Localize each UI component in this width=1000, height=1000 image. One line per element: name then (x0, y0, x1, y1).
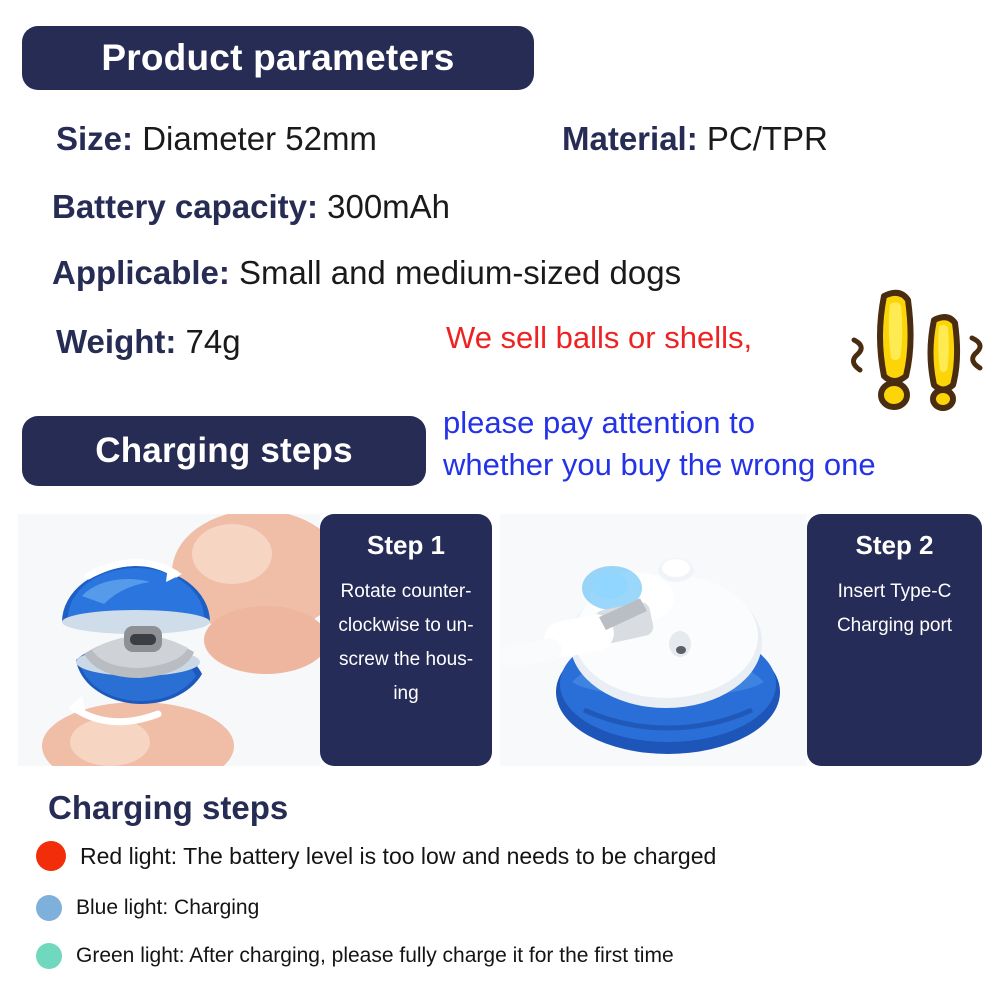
step-1-desc-line-3: screw the hous- (330, 643, 482, 677)
step-2-title: Step 2 (817, 530, 972, 561)
step-2-desc-line-2: Charging port (817, 609, 972, 643)
spec-row-battery-capacity: Battery capacity: 300mAh (52, 190, 450, 223)
product-parameters-header-badge: Product parameters (22, 26, 534, 90)
spec-row-applicable: Applicable: Small and medium-sized dogs (52, 256, 681, 289)
spec-value-size: Diameter 52mm (142, 120, 377, 157)
charging-steps-header-badge: Charging steps (22, 416, 426, 486)
legend-label-red-light: Red light: The battery level is too low … (80, 843, 716, 870)
product-parameters-title: Product parameters (101, 37, 454, 79)
charging-steps-title: Charging steps (95, 431, 353, 471)
spec-label-weight: Weight: (56, 323, 186, 360)
warning-blue-line-2: whether you buy the wrong one (443, 444, 1000, 486)
step-1-desc-line-4: ing (330, 677, 482, 711)
legend-item-blue-light: Blue light: Charging (36, 895, 259, 921)
spec-row-weight: Weight: 74g (56, 325, 241, 358)
spec-label-size: Size: (56, 120, 142, 157)
spec-value-applicable: Small and medium-sized dogs (239, 254, 681, 291)
spec-row-material: Material: PC/TPR (562, 122, 828, 155)
exclamation-marks-icon (848, 282, 1000, 414)
spec-label-material: Material: (562, 120, 707, 157)
red-light-dot (36, 841, 66, 871)
step-1-title: Step 1 (330, 530, 482, 561)
step-2-desc-line-1: Insert Type-C (817, 575, 972, 609)
warning-blue-text: please pay attention to whether you buy … (443, 402, 1000, 486)
spec-row-size: Size: Diameter 52mm (56, 122, 377, 155)
step-card-1: Step 1 Rotate counter- clockwise to un- … (18, 514, 492, 766)
ball-with-usb-c-cable-illustration (500, 514, 807, 766)
step-1-text-panel: Step 1 Rotate counter- clockwise to un- … (320, 514, 492, 766)
step-1-desc-line-2: clockwise to un- (330, 609, 482, 643)
step-2-description: Insert Type-C Charging port (817, 575, 972, 643)
step-2-photo (500, 514, 807, 766)
spec-value-material: PC/TPR (707, 120, 828, 157)
step-2-text-panel: Step 2 Insert Type-C Charging port (807, 514, 982, 766)
step-1-desc-line-1: Rotate counter- (330, 575, 482, 609)
legend-label-green-light: Green light: After charging, please full… (76, 944, 674, 968)
step-card-2: Step 2 Insert Type-C Charging port (500, 514, 982, 766)
legend-item-green-light: Green light: After charging, please full… (36, 943, 674, 969)
blue-light-dot (36, 895, 62, 921)
legend-heading: Charging steps (48, 789, 288, 827)
step-1-description: Rotate counter- clockwise to un- screw t… (330, 575, 482, 711)
hands-twisting-ball-open-illustration (18, 514, 320, 766)
warning-red-text: We sell balls or shells, (446, 320, 752, 356)
spec-value-weight: 74g (186, 323, 241, 360)
legend-item-red-light: Red light: The battery level is too low … (36, 841, 716, 871)
step-1-photo (18, 514, 320, 766)
spec-value-battery-capacity: 300mAh (327, 188, 450, 225)
spec-label-battery-capacity: Battery capacity: (52, 188, 327, 225)
green-light-dot (36, 943, 62, 969)
spec-label-applicable: Applicable: (52, 254, 239, 291)
legend-label-blue-light: Blue light: Charging (76, 896, 259, 920)
